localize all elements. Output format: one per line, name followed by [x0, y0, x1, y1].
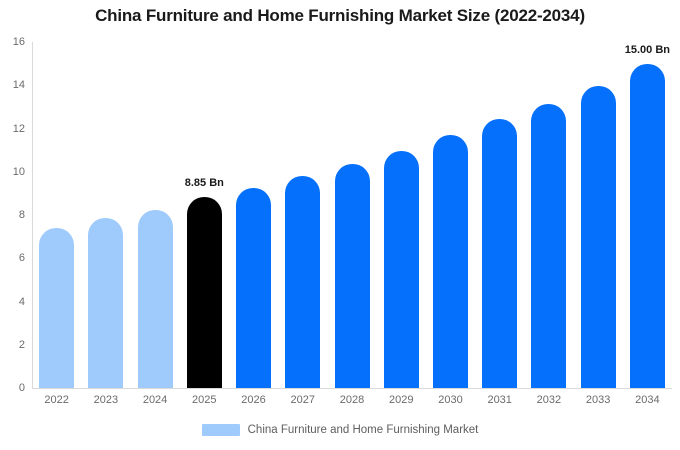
- bar-2028[interactable]: [335, 164, 370, 388]
- bar-2033[interactable]: [581, 86, 616, 388]
- legend-item-china-furniture[interactable]: China Furniture and Home Furnishing Mark…: [202, 424, 479, 436]
- x-tick-label-2033: 2033: [586, 394, 610, 406]
- bar-2032[interactable]: [531, 104, 566, 388]
- chart-container: China Furniture and Home Furnishing Mark…: [0, 0, 680, 450]
- y-tick-label: 2: [19, 339, 25, 351]
- x-tick-label-2031: 2031: [487, 394, 511, 406]
- bar-2030[interactable]: [433, 135, 468, 388]
- bars-layer: 2022202320248.85 Bn202520262027202820292…: [32, 42, 672, 388]
- plot-area: 0246810121416 2022202320248.85 Bn2025202…: [32, 42, 672, 388]
- bar-2023[interactable]: [88, 218, 123, 388]
- bar-group: 2029: [384, 42, 419, 388]
- bar-group: 2028: [335, 42, 370, 388]
- y-tick-label: 8: [19, 209, 25, 221]
- y-tick-label: 16: [13, 36, 25, 48]
- x-tick-label-2032: 2032: [537, 394, 561, 406]
- x-axis-line: [32, 388, 672, 389]
- legend-label: China Furniture and Home Furnishing Mark…: [248, 424, 479, 436]
- x-tick-label-2034: 2034: [635, 394, 659, 406]
- x-tick-label-2027: 2027: [291, 394, 315, 406]
- bar-2034[interactable]: [630, 64, 665, 388]
- bar-group: 15.00 Bn2034: [630, 42, 665, 388]
- y-tick-label: 12: [13, 123, 25, 135]
- x-tick-label-2024: 2024: [143, 394, 167, 406]
- x-tick-label-2025: 2025: [192, 394, 216, 406]
- bar-2026[interactable]: [236, 188, 271, 388]
- x-tick-label-2029: 2029: [389, 394, 413, 406]
- bar-group: 8.85 Bn2025: [187, 42, 222, 388]
- y-tick-label: 4: [19, 296, 25, 308]
- bar-2024[interactable]: [138, 210, 173, 388]
- bar-2029[interactable]: [384, 151, 419, 388]
- x-tick-label-2030: 2030: [438, 394, 462, 406]
- bar-2025[interactable]: [187, 197, 222, 388]
- chart-legend: China Furniture and Home Furnishing Mark…: [0, 424, 680, 436]
- bar-2022[interactable]: [39, 228, 74, 388]
- bar-group: 2023: [88, 42, 123, 388]
- y-tick-label: 10: [13, 166, 25, 178]
- x-tick-label-2023: 2023: [94, 394, 118, 406]
- x-tick-label-2022: 2022: [44, 394, 68, 406]
- legend-swatch: [202, 424, 240, 436]
- y-tick-label: 14: [13, 79, 25, 91]
- bar-2027[interactable]: [285, 176, 320, 388]
- y-tick-label: 6: [19, 252, 25, 264]
- bar-group: 2022: [39, 42, 74, 388]
- bar-group: 2026: [236, 42, 271, 388]
- chart-title: China Furniture and Home Furnishing Mark…: [0, 6, 680, 26]
- bar-group: 2032: [531, 42, 566, 388]
- x-tick-label-2026: 2026: [241, 394, 265, 406]
- bar-group: 2031: [482, 42, 517, 388]
- bar-2031[interactable]: [482, 119, 517, 388]
- bar-group: 2033: [581, 42, 616, 388]
- bar-value-label-2034: 15.00 Bn: [625, 44, 670, 56]
- x-tick-label-2028: 2028: [340, 394, 364, 406]
- bar-group: 2030: [433, 42, 468, 388]
- bar-value-label-2025: 8.85 Bn: [185, 177, 224, 189]
- y-tick-label: 0: [19, 382, 25, 394]
- bar-group: 2027: [285, 42, 320, 388]
- bar-group: 2024: [138, 42, 173, 388]
